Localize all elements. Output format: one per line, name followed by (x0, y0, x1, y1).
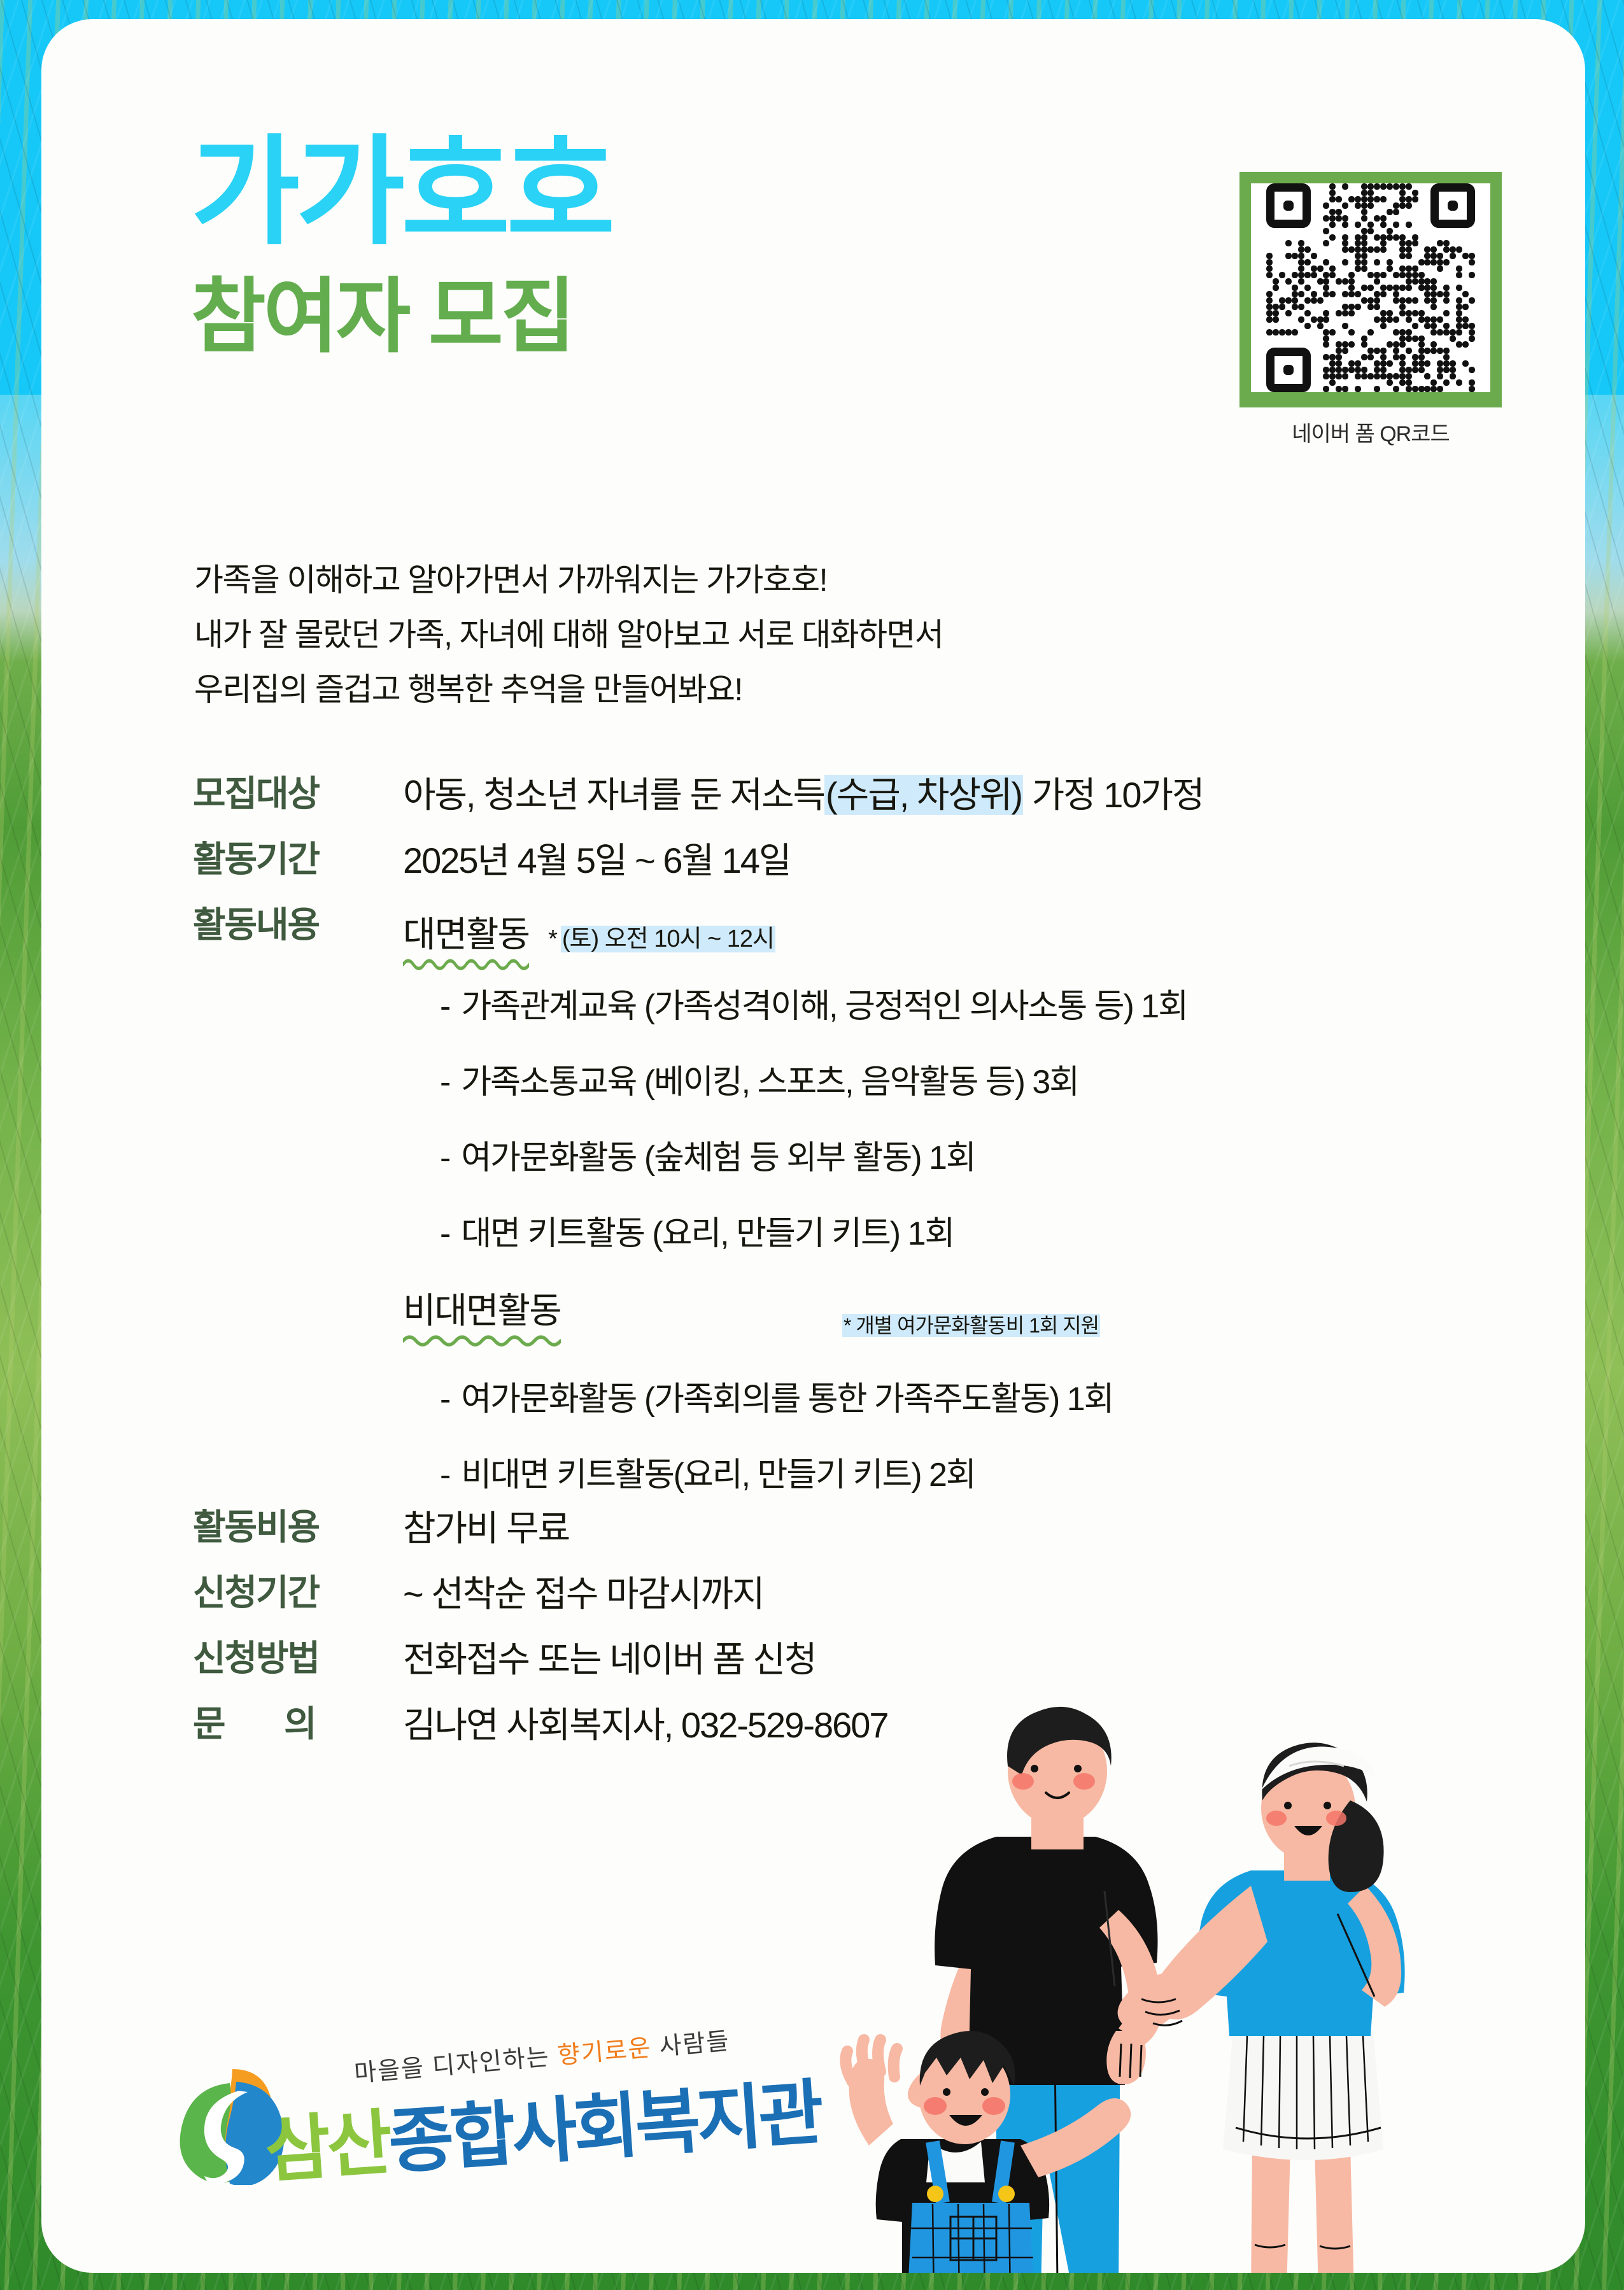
offline-mode-name: 대면활동 (403, 906, 529, 970)
qr-caption: 네이버 폼 QR코드 (1239, 416, 1502, 448)
row-label-cost: 활동비용 (193, 1507, 403, 1548)
list-item-label: 여가문화활동 (가족회의를 통한 가족주도활동) 1회 (461, 1381, 1113, 1418)
online-mode-name: 비대면활동 (403, 1282, 561, 1346)
dash-icon: - (440, 1140, 449, 1177)
title-block: 가가호호 참여자 모집 (191, 134, 611, 358)
qr-finder-icon (1430, 183, 1475, 228)
logo-name-part2: 종합사회복지관 (386, 2073, 823, 2182)
info-row-content: 활동내용 대면활동 *(토) 오전 10시 ~ 12시 -가족관계 (193, 905, 1530, 1502)
info-row-cost: 활동비용 참가비 무료 (193, 1507, 1530, 1550)
asterisk-icon: * (548, 926, 557, 952)
dash-icon: - (440, 1381, 449, 1418)
logo-name-part1: 삼산 (262, 2103, 391, 2191)
wavy-underline-icon (403, 1332, 561, 1346)
intro-line-3: 우리집의 즐겁고 행복한 추억을 만들어봐요! (194, 662, 943, 717)
offline-mode-note: *(토) 오전 10시 ~ 12시 (548, 919, 775, 970)
row-value-target: 아동, 청소년 자녀를 둔 저소득(수급, 차상위) 가정 10가정 (403, 774, 1204, 816)
qr-code-icon[interactable] (1251, 183, 1490, 392)
logo-tagline-part2: 향기로운 (556, 2035, 653, 2070)
list-item: -여가문화활동 (숲체험 등 외부 활동) 1회 (440, 1131, 1187, 1178)
wavy-underline-icon (403, 956, 529, 970)
row-label-target: 모집대상 (193, 774, 403, 815)
offline-activity-list: -가족관계교육 (가족성격이해, 긍정적인 의사소통 등) 1회 -가족소통교육… (403, 979, 1187, 1254)
activity-body: 대면활동 *(토) 오전 10시 ~ 12시 -가족관계교육 (가족성격이해, … (403, 905, 1187, 1502)
info-table: 모집대상 아동, 청소년 자녀를 둔 저소득(수급, 차상위) 가정 10가정 … (193, 774, 1530, 1769)
intro-line-1: 가족을 이해하고 알아가면서 가까워지는 가가호호! (194, 553, 943, 607)
info-row-period: 활동기간 2025년 4월 5일 ~ 6월 14일 (193, 839, 1530, 882)
poster-background: 가가호호 참여자 모집 네이버 폼 QR코드 가족을 이해하고 알아가면서 가까… (0, 0, 1624, 2290)
row-label-content: 활동내용 (193, 905, 403, 946)
offline-mode-line: 대면활동 *(토) 오전 10시 ~ 12시 (403, 906, 1187, 970)
list-item: -가족소통교육 (베이킹, 스포츠, 음악활동 등) 3회 (440, 1055, 1187, 1103)
dash-icon: - (440, 1457, 449, 1494)
row-label-period: 활동기간 (193, 839, 403, 880)
row-label-contact: 문 의 (193, 1704, 403, 1745)
dash-icon: - (440, 1064, 449, 1101)
logo-tagline-part3: 사람들 (651, 2028, 731, 2061)
page-subtitle: 참여자 모집 (191, 276, 611, 358)
intro-line-2: 내가 잘 몰랐던 가족, 자녀에 대해 알아보고 서로 대화하면서 (194, 607, 943, 662)
logo-name: 삼산종합사회복지관 (261, 2055, 823, 2197)
list-item: -가족관계교육 (가족성격이해, 긍정적인 의사소통 등) 1회 (440, 979, 1187, 1027)
page-title: 가가호호 (191, 134, 611, 252)
organization-logo: 마을을 디자인하는 향기로운 사람들 삼산종합사회복지관 (169, 2037, 761, 2196)
row-value-period: 2025년 4월 5일 ~ 6월 14일 (403, 839, 790, 882)
qr-frame (1239, 172, 1502, 407)
row-value-apply-period: ~ 선착순 접수 마감시까지 (403, 1573, 764, 1615)
qr-block[interactable]: 네이버 폼 QR코드 (1239, 172, 1502, 448)
list-item-label: 비대면 키트활동(요리, 만들기 키트) 2회 (461, 1457, 975, 1494)
info-row-apply-method: 신청방법 전화접수 또는 네이버 폼 신청 (193, 1638, 1530, 1681)
intro-paragraph: 가족을 이해하고 알아가면서 가까워지는 가가호호! 내가 잘 몰랐던 가족, … (194, 553, 943, 717)
qr-finder-icon (1266, 183, 1311, 228)
info-row-apply-period: 신청기간 ~ 선착순 접수 마감시까지 (193, 1573, 1530, 1615)
row-value-cost: 참가비 무료 (403, 1507, 569, 1550)
online-mode-label: 비대면활동 (403, 1290, 561, 1331)
online-mode-note-text: * 개별 여가문화활동비 1회 지원 (842, 1314, 1100, 1337)
offline-mode-label: 대면활동 (403, 914, 529, 954)
list-item-label: 대면 키트활동 (요리, 만들기 키트) 1회 (461, 1215, 954, 1252)
offline-mode-note-text: (토) 오전 10시 ~ 12시 (561, 926, 775, 952)
info-row-target: 모집대상 아동, 청소년 자녀를 둔 저소득(수급, 차상위) 가정 10가정 (193, 774, 1530, 816)
list-item-label: 가족관계교육 (가족성격이해, 긍정적인 의사소통 등) 1회 (461, 988, 1187, 1025)
online-activity-list: -여가문화활동 (가족회의를 통한 가족주도활동) 1회 -비대면 키트활동(요… (403, 1372, 1187, 1495)
list-item: -여가문화활동 (가족회의를 통한 가족주도활동) 1회 (440, 1372, 1187, 1420)
list-item-label: 여가문화활동 (숲체험 등 외부 활동) 1회 (461, 1140, 975, 1177)
dash-icon: - (440, 988, 449, 1025)
row-label-apply-period: 신청기간 (193, 1573, 403, 1614)
qr-finder-icon (1266, 348, 1311, 392)
dash-icon: - (440, 1215, 449, 1252)
target-value-pre: 아동, 청소년 자녀를 둔 저소득 (403, 775, 824, 815)
online-mode-note: * 개별 여가문화활동비 1회 지원 (842, 1310, 1100, 1339)
row-label-apply-method: 신청방법 (193, 1638, 403, 1679)
poster-card: 가가호호 참여자 모집 네이버 폼 QR코드 가족을 이해하고 알아가면서 가까… (41, 19, 1585, 2273)
list-item: -대면 키트활동 (요리, 만들기 키트) 1회 (440, 1206, 1187, 1254)
list-item-label: 가족소통교육 (베이킹, 스포츠, 음악활동 등) 3회 (461, 1064, 1078, 1101)
row-value-apply-method: 전화접수 또는 네이버 폼 신청 (403, 1638, 816, 1681)
list-item: -비대면 키트활동(요리, 만들기 키트) 2회 (440, 1448, 1187, 1495)
target-value-highlight: (수급, 차상위) (824, 775, 1023, 815)
family-illustration (805, 1700, 1585, 2273)
target-value-post: 가정 10가정 (1023, 775, 1204, 815)
